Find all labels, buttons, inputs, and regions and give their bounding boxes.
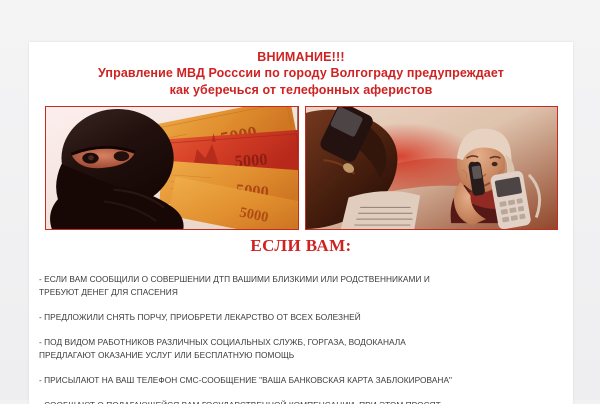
masked-robber-illustration: 5000 5000 5000: [46, 107, 298, 229]
header-line-attention: ВНИМАНИЕ!!!: [29, 49, 573, 65]
poster-header: ВНИМАНИЕ!!! Управление МВД Росссии по го…: [29, 42, 573, 98]
header-line-authority: Управление МВД Росссии по городу Волгогр…: [29, 65, 573, 81]
scam-scenarios-list: - ЕСЛИ ВАМ СООБЩИЛИ О СОВЕРШЕНИИ ДТП ВАШ…: [39, 261, 573, 404]
header-line-subtitle: как уберечься от телефонных аферистов: [29, 82, 573, 98]
elderly-woman-phone-illustration: [306, 107, 558, 229]
section-title-if-you: ЕСЛИ ВАМ:: [29, 236, 573, 256]
list-item: - ПРИСЫЛАЮТ НА ВАШ ТЕЛЕФОН СМС-СООБЩЕНИЕ…: [39, 374, 573, 387]
list-item: - ПОД ВИДОМ РАБОТНИКОВ РАЗЛИЧНЫХ СОЦИАЛЬ…: [39, 336, 573, 361]
poster-sheet: ВНИМАНИЕ!!! Управление МВД Росссии по го…: [29, 42, 573, 404]
photo-row: 5000 5000 5000: [45, 106, 558, 230]
list-item: - ПРЕДЛОЖИЛИ СНЯТЬ ПОРЧУ, ПРИОБРЕТИ ЛЕКА…: [39, 311, 573, 324]
photo-elderly-woman-on-phone: [305, 106, 559, 230]
photo-masked-robber-with-rubles: 5000 5000 5000: [45, 106, 299, 230]
list-item: - СООБЩАЮТ О ПОЛАГАЮЩЕЙСЯ ВАМ ГОСУДАРСТВ…: [39, 399, 573, 404]
list-item: - ЕСЛИ ВАМ СООБЩИЛИ О СОВЕРШЕНИИ ДТП ВАШ…: [39, 273, 573, 298]
